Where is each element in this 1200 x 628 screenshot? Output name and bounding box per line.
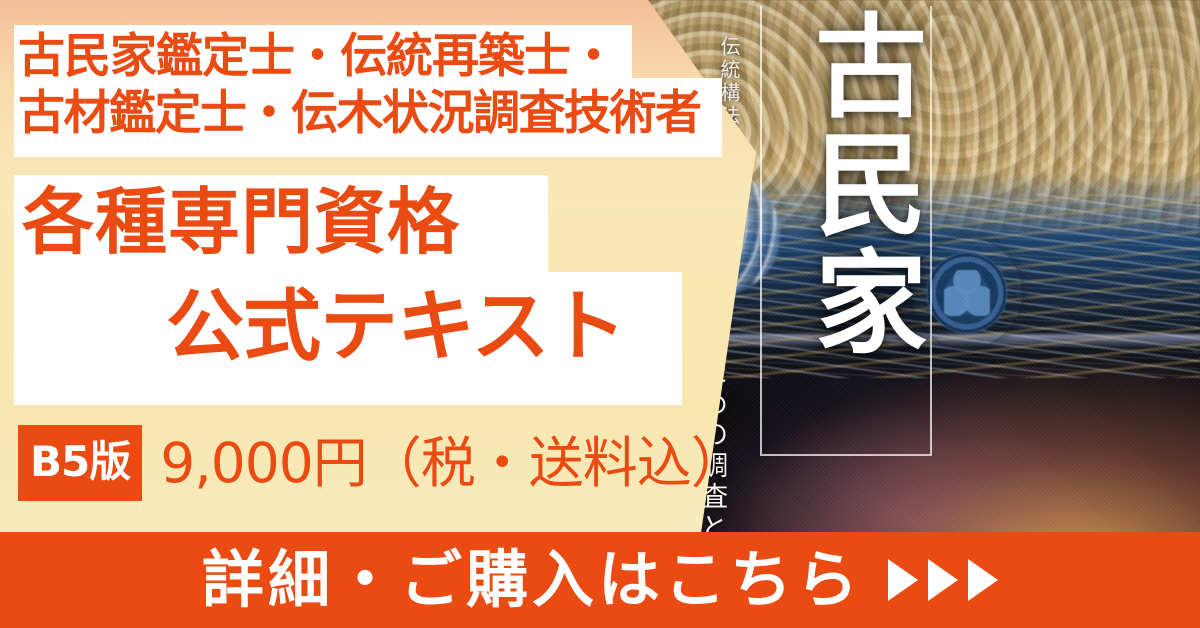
headline-line-1: 古民家鑑定士・伝統再築士・ <box>18 28 724 85</box>
cta-label: 詳細・ご購入はこちら <box>202 549 862 611</box>
cta-bar[interactable]: 詳細・ご購入はこちら <box>0 532 1200 628</box>
headline-line-2: 古材鑑定士・伝木状況調査技術者 <box>18 85 724 142</box>
headline: 古民家鑑定士・伝統再築士・ 古材鑑定士・伝木状況調査技術者 <box>18 28 724 143</box>
triangle-right-icon <box>928 559 958 601</box>
cta-arrow-group <box>888 559 998 601</box>
price-row: B5版 9,000円（税・送料込） <box>18 425 745 501</box>
subhead-line-1: 各種専門資格 <box>22 186 460 258</box>
subhead-line-2: 公式テキスト <box>166 288 626 366</box>
format-badge: B5版 <box>18 425 142 501</box>
triangle-right-icon <box>888 559 918 601</box>
triangle-right-icon <box>968 559 998 601</box>
promo-banner: 伝統構法、 古民家活用のための調査と再生の 古民家 古民家鑑定士・伝統再築士・ … <box>0 0 1200 628</box>
book-title: 古民家 <box>762 8 926 362</box>
price-amount: 9,000円（税・送料込） <box>160 436 744 491</box>
